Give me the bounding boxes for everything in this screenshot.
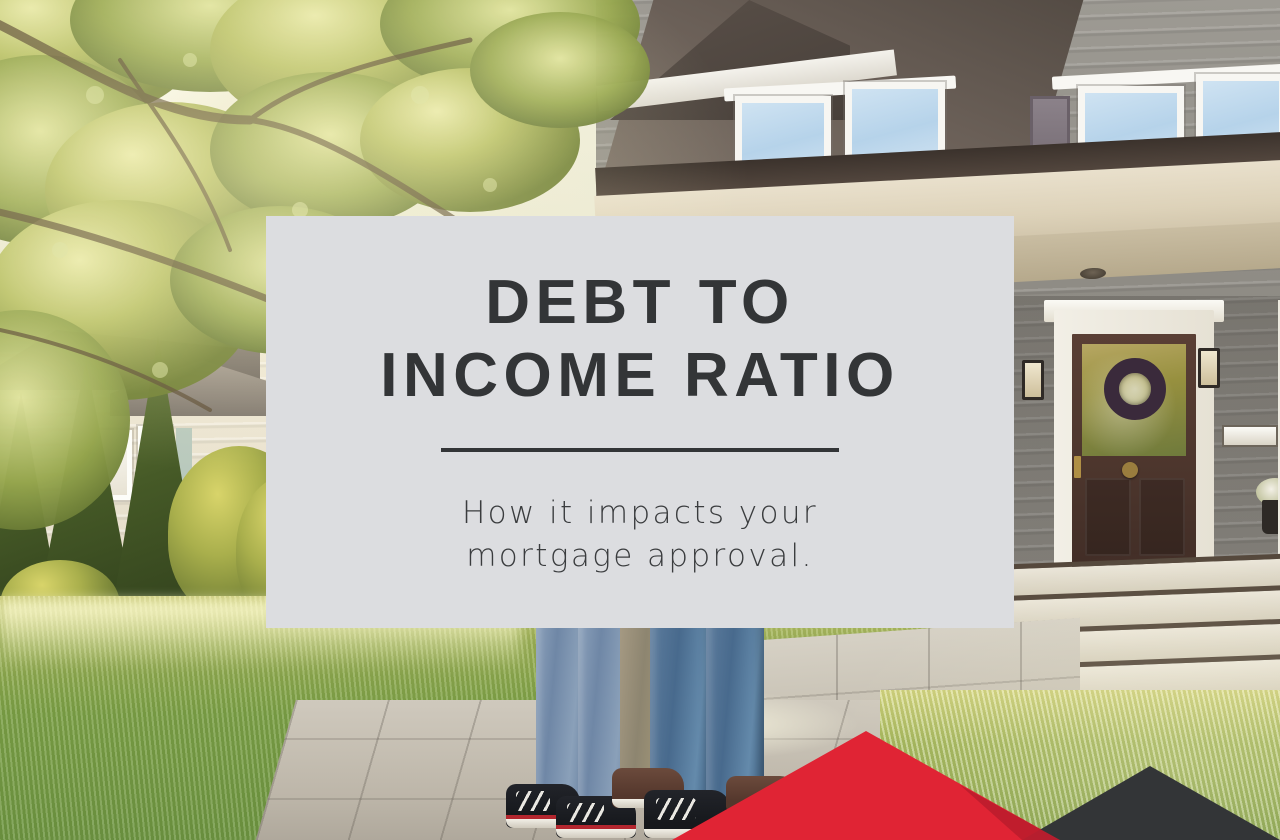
right-lawn-strip: [880, 690, 1280, 840]
sandal: [726, 776, 798, 812]
door-handle-icon: [1074, 456, 1081, 478]
wreath-decoration: [1104, 358, 1166, 420]
title-divider: [441, 448, 839, 452]
shoe-sole: [644, 829, 730, 838]
mailbox-icon: [1222, 425, 1278, 447]
shoe-laces: [516, 791, 550, 811]
shoe-sole: [556, 829, 636, 838]
wall-sconce-light: [1198, 348, 1220, 388]
page-title: DEBT TO INCOME RATIO: [370, 267, 910, 412]
promo-card: DEBT TO INCOME RATIO How it impacts your…: [0, 0, 1280, 840]
sneaker: [644, 790, 730, 838]
wall-sconce-light: [1022, 360, 1044, 400]
door-knocker-icon: [1122, 462, 1138, 478]
door-panel: [1139, 478, 1185, 556]
door-panel: [1085, 478, 1131, 556]
lawn-texture: [880, 690, 1280, 840]
text-panel: DEBT TO INCOME RATIO How it impacts your…: [266, 216, 1014, 628]
shoe-laces: [656, 798, 696, 820]
page-subtitle: How it impacts your mortgage approval.: [422, 492, 858, 576]
shoe-laces: [567, 803, 604, 822]
